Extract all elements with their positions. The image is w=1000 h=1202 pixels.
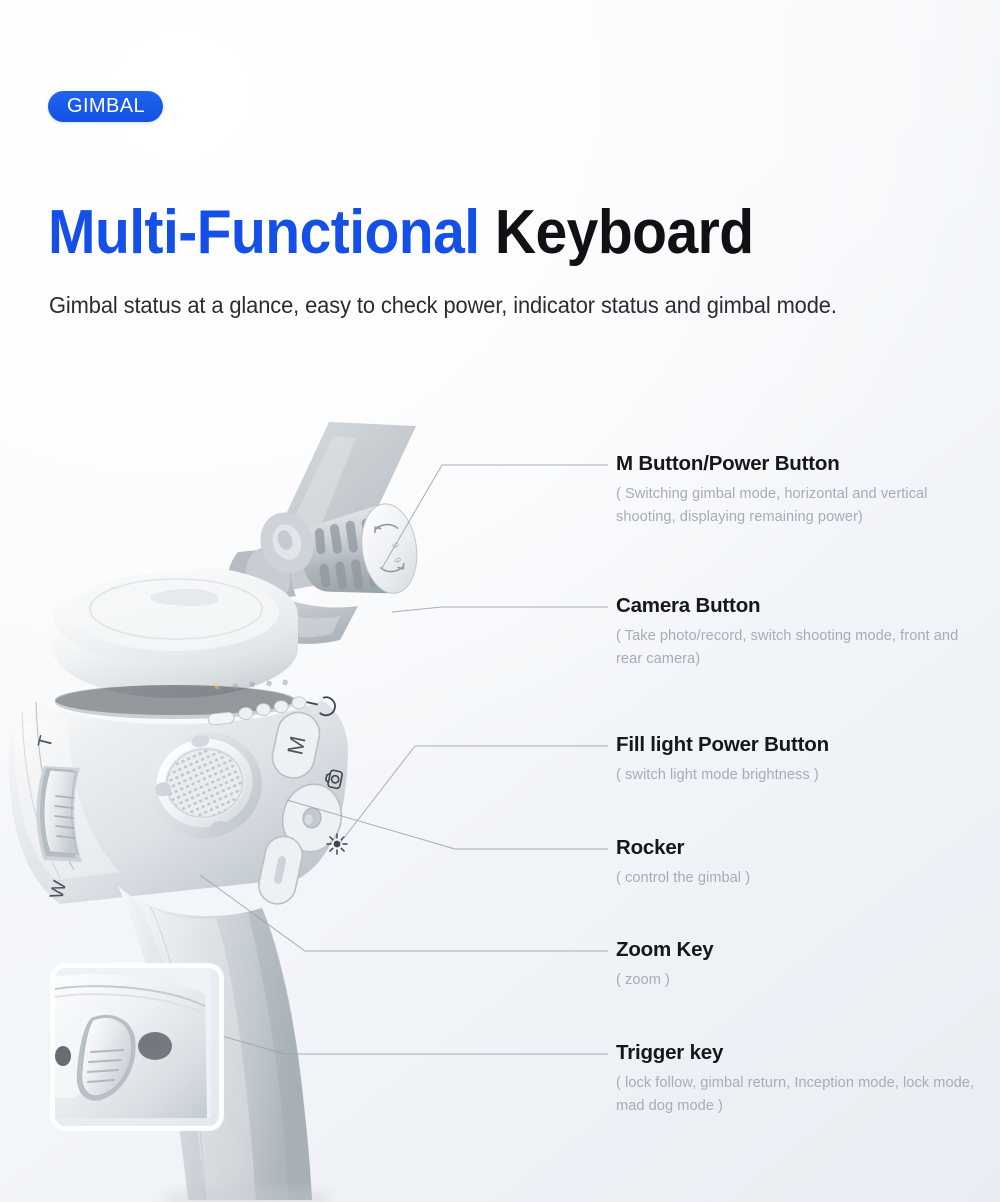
callout-description: ( lock follow, gimbal return, Inception … <box>616 1072 988 1118</box>
callout-description: ( switch light mode brightness ) <box>616 764 988 787</box>
callout-m-button-power-button: M Button/Power Button ( Switching gimbal… <box>616 452 988 529</box>
callout-description: ( control the gimbal ) <box>616 867 988 890</box>
callout-fill-light-power-button: Fill light Power Button ( switch light m… <box>616 733 988 787</box>
callout-description: ( Switching gimbal mode, horizontal and … <box>616 483 988 529</box>
callout-description: ( zoom ) <box>616 969 988 992</box>
trigger-key-detail-inset <box>51 964 223 1130</box>
callout-trigger-key: Trigger key ( lock follow, gimbal return… <box>616 1041 988 1118</box>
callout-title: Rocker <box>616 836 988 860</box>
infographic-page: GIMBAL Multi-Functional Keyboard Gimbal … <box>0 0 1000 1202</box>
callout-title: Zoom Key <box>616 938 988 962</box>
callout-title: Camera Button <box>616 594 988 618</box>
callout-zoom-key: Zoom Key ( zoom ) <box>616 938 988 992</box>
callout-description: ( Take photo/record, switch shooting mod… <box>616 625 988 671</box>
leader-line-fill-light <box>340 746 608 843</box>
leader-line-camera-button <box>392 607 608 612</box>
callout-title: Fill light Power Button <box>616 733 988 757</box>
leader-line-rocker <box>287 800 608 849</box>
callout-title: M Button/Power Button <box>616 452 988 476</box>
callout-camera-button: Camera Button ( Take photo/record, switc… <box>616 594 988 671</box>
callout-rocker: Rocker ( control the gimbal ) <box>616 836 988 890</box>
callout-title: Trigger key <box>616 1041 988 1065</box>
leader-line-m-button <box>382 465 608 568</box>
leader-line-zoom-key <box>200 875 608 951</box>
